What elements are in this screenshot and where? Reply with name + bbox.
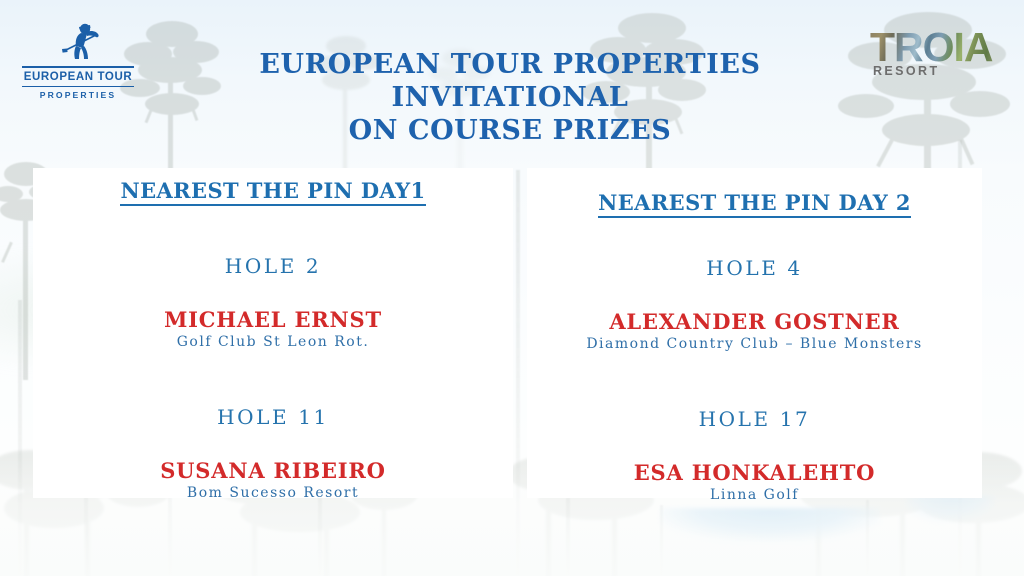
hole-label: HOLE 11 (33, 405, 513, 429)
golfer-silhouette-icon (52, 22, 108, 64)
prize-entry: HOLE 2 MICHAEL ERNST Golf Club St Leon R… (33, 254, 513, 350)
etp-logo-line1: EUROPEAN TOUR (22, 70, 134, 84)
prize-entry: HOLE 11 SUSANA RIBEIRO Bom Sucesso Resor… (33, 405, 513, 501)
panel-heading-text: NEAREST THE PIN DAY 2 (598, 190, 911, 218)
prize-entry: HOLE 17 ESA HONKALEHTO Linna Golf (527, 407, 982, 503)
page-title: EUROPEAN TOUR PROPERTIES INVITATIONAL ON… (150, 48, 870, 147)
winner-club: Bom Sucesso Resort (33, 485, 513, 501)
hole-label: HOLE 17 (527, 407, 982, 431)
presentation-slide: EUROPEAN TOUR PROPERTIES EUROPEAN TOUR P… (0, 0, 1024, 576)
slide-header: EUROPEAN TOUR PROPERTIES EUROPEAN TOUR P… (0, 0, 1024, 140)
winner-name: ALEXANDER GOSTNER (527, 309, 982, 334)
panel-heading-day1: NEAREST THE PIN DAY1 (33, 178, 513, 206)
european-tour-properties-logo: EUROPEAN TOUR PROPERTIES (22, 22, 134, 92)
panel-heading-text: NEAREST THE PIN DAY1 (120, 178, 425, 206)
logo-rule-top (22, 66, 134, 68)
etp-wordmark: EUROPEAN TOUR PROPERTIES (22, 64, 134, 101)
winner-name: SUSANA RIBEIRO (33, 458, 513, 483)
winner-club: Linna Golf (527, 487, 982, 503)
prize-entry: HOLE 4 ALEXANDER GOSTNER Diamond Country… (527, 256, 982, 352)
winner-club: Golf Club St Leon Rot. (33, 334, 513, 350)
prize-panel-day2: NEAREST THE PIN DAY 2 HOLE 4 ALEXANDER G… (527, 168, 982, 498)
logo-rule-bottom (22, 86, 134, 88)
winner-club: Diamond Country Club – Blue Monsters (527, 336, 982, 352)
troia-resort-logo: TROIA RESORT (870, 26, 996, 82)
hole-label: HOLE 4 (527, 256, 982, 280)
etp-logo-line2: PROPERTIES (22, 89, 134, 101)
panel-heading-day2: NEAREST THE PIN DAY 2 (527, 190, 982, 218)
prize-panel-day1: NEAREST THE PIN DAY1 HOLE 2 MICHAEL ERNS… (33, 168, 513, 498)
winner-name: MICHAEL ERNST (33, 307, 513, 332)
troia-logo-word: TROIA (870, 26, 996, 68)
hole-label: HOLE 2 (33, 254, 513, 278)
winner-name: ESA HONKALEHTO (527, 460, 982, 485)
